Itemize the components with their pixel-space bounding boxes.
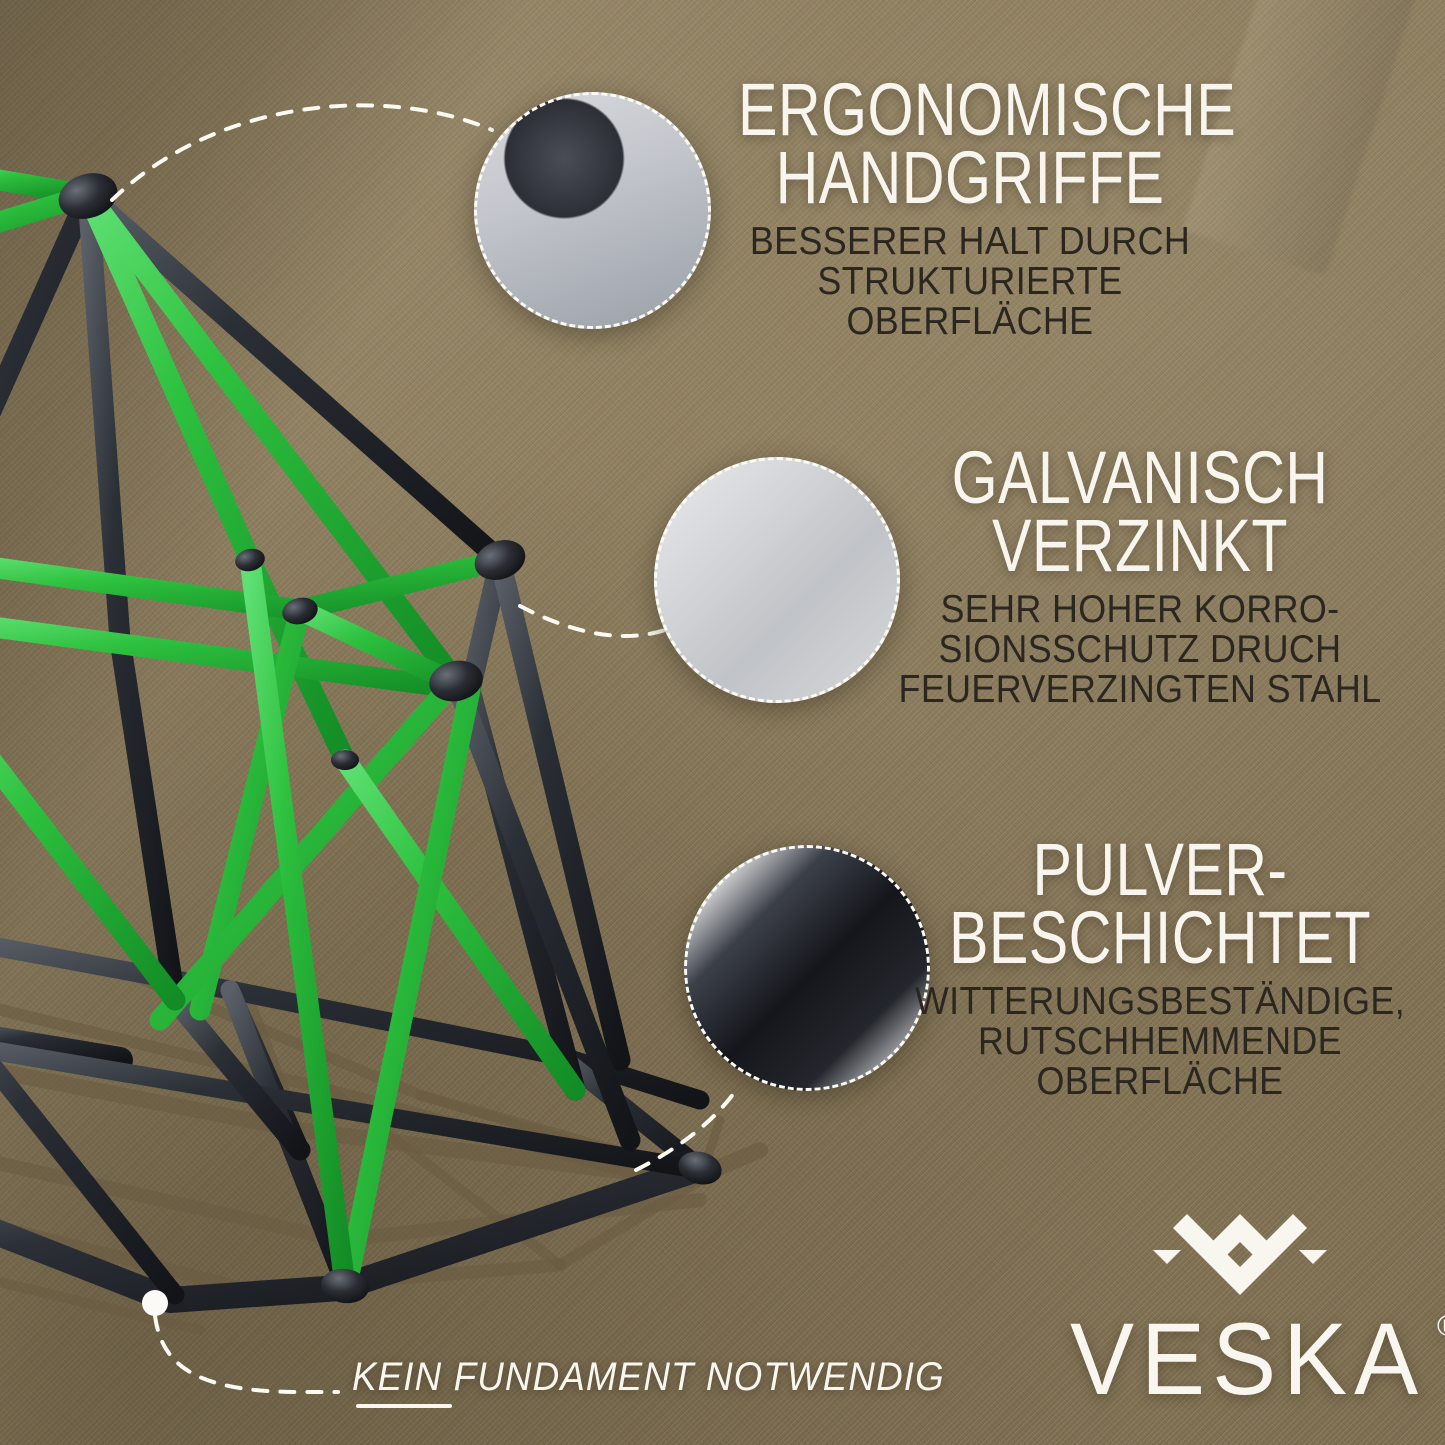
- feature-headline-handles: ERGONOMISCHE HANDGRIFFE: [738, 76, 1202, 212]
- veska-chevron-mark-icon: [1147, 1208, 1333, 1312]
- white-dot-marker: [142, 1290, 168, 1316]
- feature-block-handles: ERGONOMISCHE HANDGRIFFE BESSERER HALT DU…: [680, 76, 1260, 341]
- feature-subtext-handles: BESSERER HALT DURCH STRUKTURIERTE OBERFL…: [703, 222, 1237, 341]
- feature-subtext-powdercoated: WITTERUNGSBESTÄNDIGE, RUTSCHHEMMENDE OBE…: [902, 982, 1417, 1101]
- product-feature-poster: ERGONOMISCHE HANDGRIFFE BESSERER HALT DU…: [0, 0, 1445, 1445]
- bottom-caption-underline: [356, 1404, 452, 1408]
- callout-hub-connector-closeup: [474, 92, 711, 329]
- feature-headline-powdercoated: PULVER- BESCHICHTET: [936, 836, 1384, 972]
- feature-headline-galvanized: GALVANISCH VERZINKT: [916, 444, 1364, 580]
- brand-wordmark: VESKA: [1070, 1303, 1425, 1416]
- brand-logo: VESKA ®: [1070, 1208, 1410, 1408]
- registered-trademark-symbol: ®: [1437, 1312, 1445, 1342]
- feature-subtext-galvanized: SEHR HOHER KORRO- SIONSSCHUTZ DRUCH FEUE…: [882, 590, 1397, 709]
- feature-block-powdercoated: PULVER- BESCHICHTET WITTERUNGSBESTÄNDIGE…: [880, 836, 1440, 1101]
- brand-wordmark-wrap: VESKA ®: [1070, 1309, 1425, 1411]
- feature-block-galvanized: GALVANISCH VERZINKT SEHR HOHER KORRO- SI…: [860, 444, 1420, 709]
- bottom-caption: KEIN FUNDAMENT NOTWENDIG: [352, 1355, 945, 1400]
